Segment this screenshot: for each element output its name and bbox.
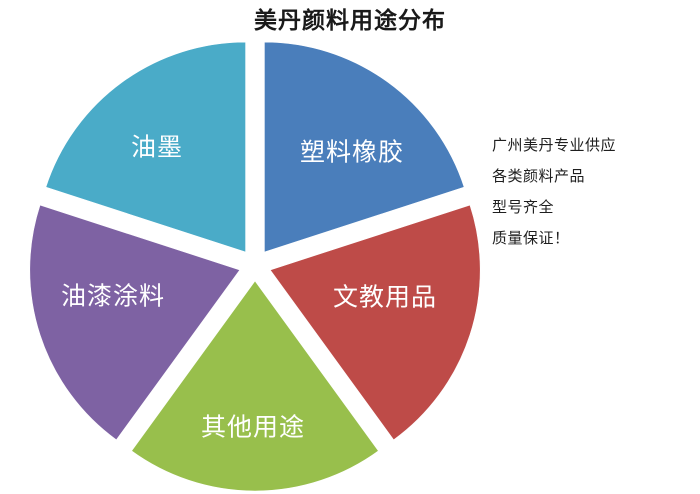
side-note-line-3: 型号齐全	[492, 193, 692, 224]
pie-slice-label-4: 油漆涂料	[61, 283, 165, 311]
side-note-block: 广州美丹专业供应 各类颜料产品 型号齐全 质量保证！	[492, 131, 692, 255]
pie-chart-figure: 美丹颜料用途分布 塑料橡胶文教用品其他用途油漆涂料油墨 广州美丹专业供应 各类颜…	[0, 0, 700, 494]
side-note-line-4: 质量保证！	[492, 224, 692, 255]
pie-slice-label-2: 文教用品	[333, 284, 437, 312]
side-note-line-1: 广州美丹专业供应	[492, 131, 692, 162]
pie-slice-label-5: 油墨	[131, 134, 183, 162]
pie-slice-label-3: 其他用途	[201, 414, 305, 442]
pie-slice-label-1: 塑料橡胶	[300, 139, 404, 167]
side-note-line-2: 各类颜料产品	[492, 162, 692, 193]
